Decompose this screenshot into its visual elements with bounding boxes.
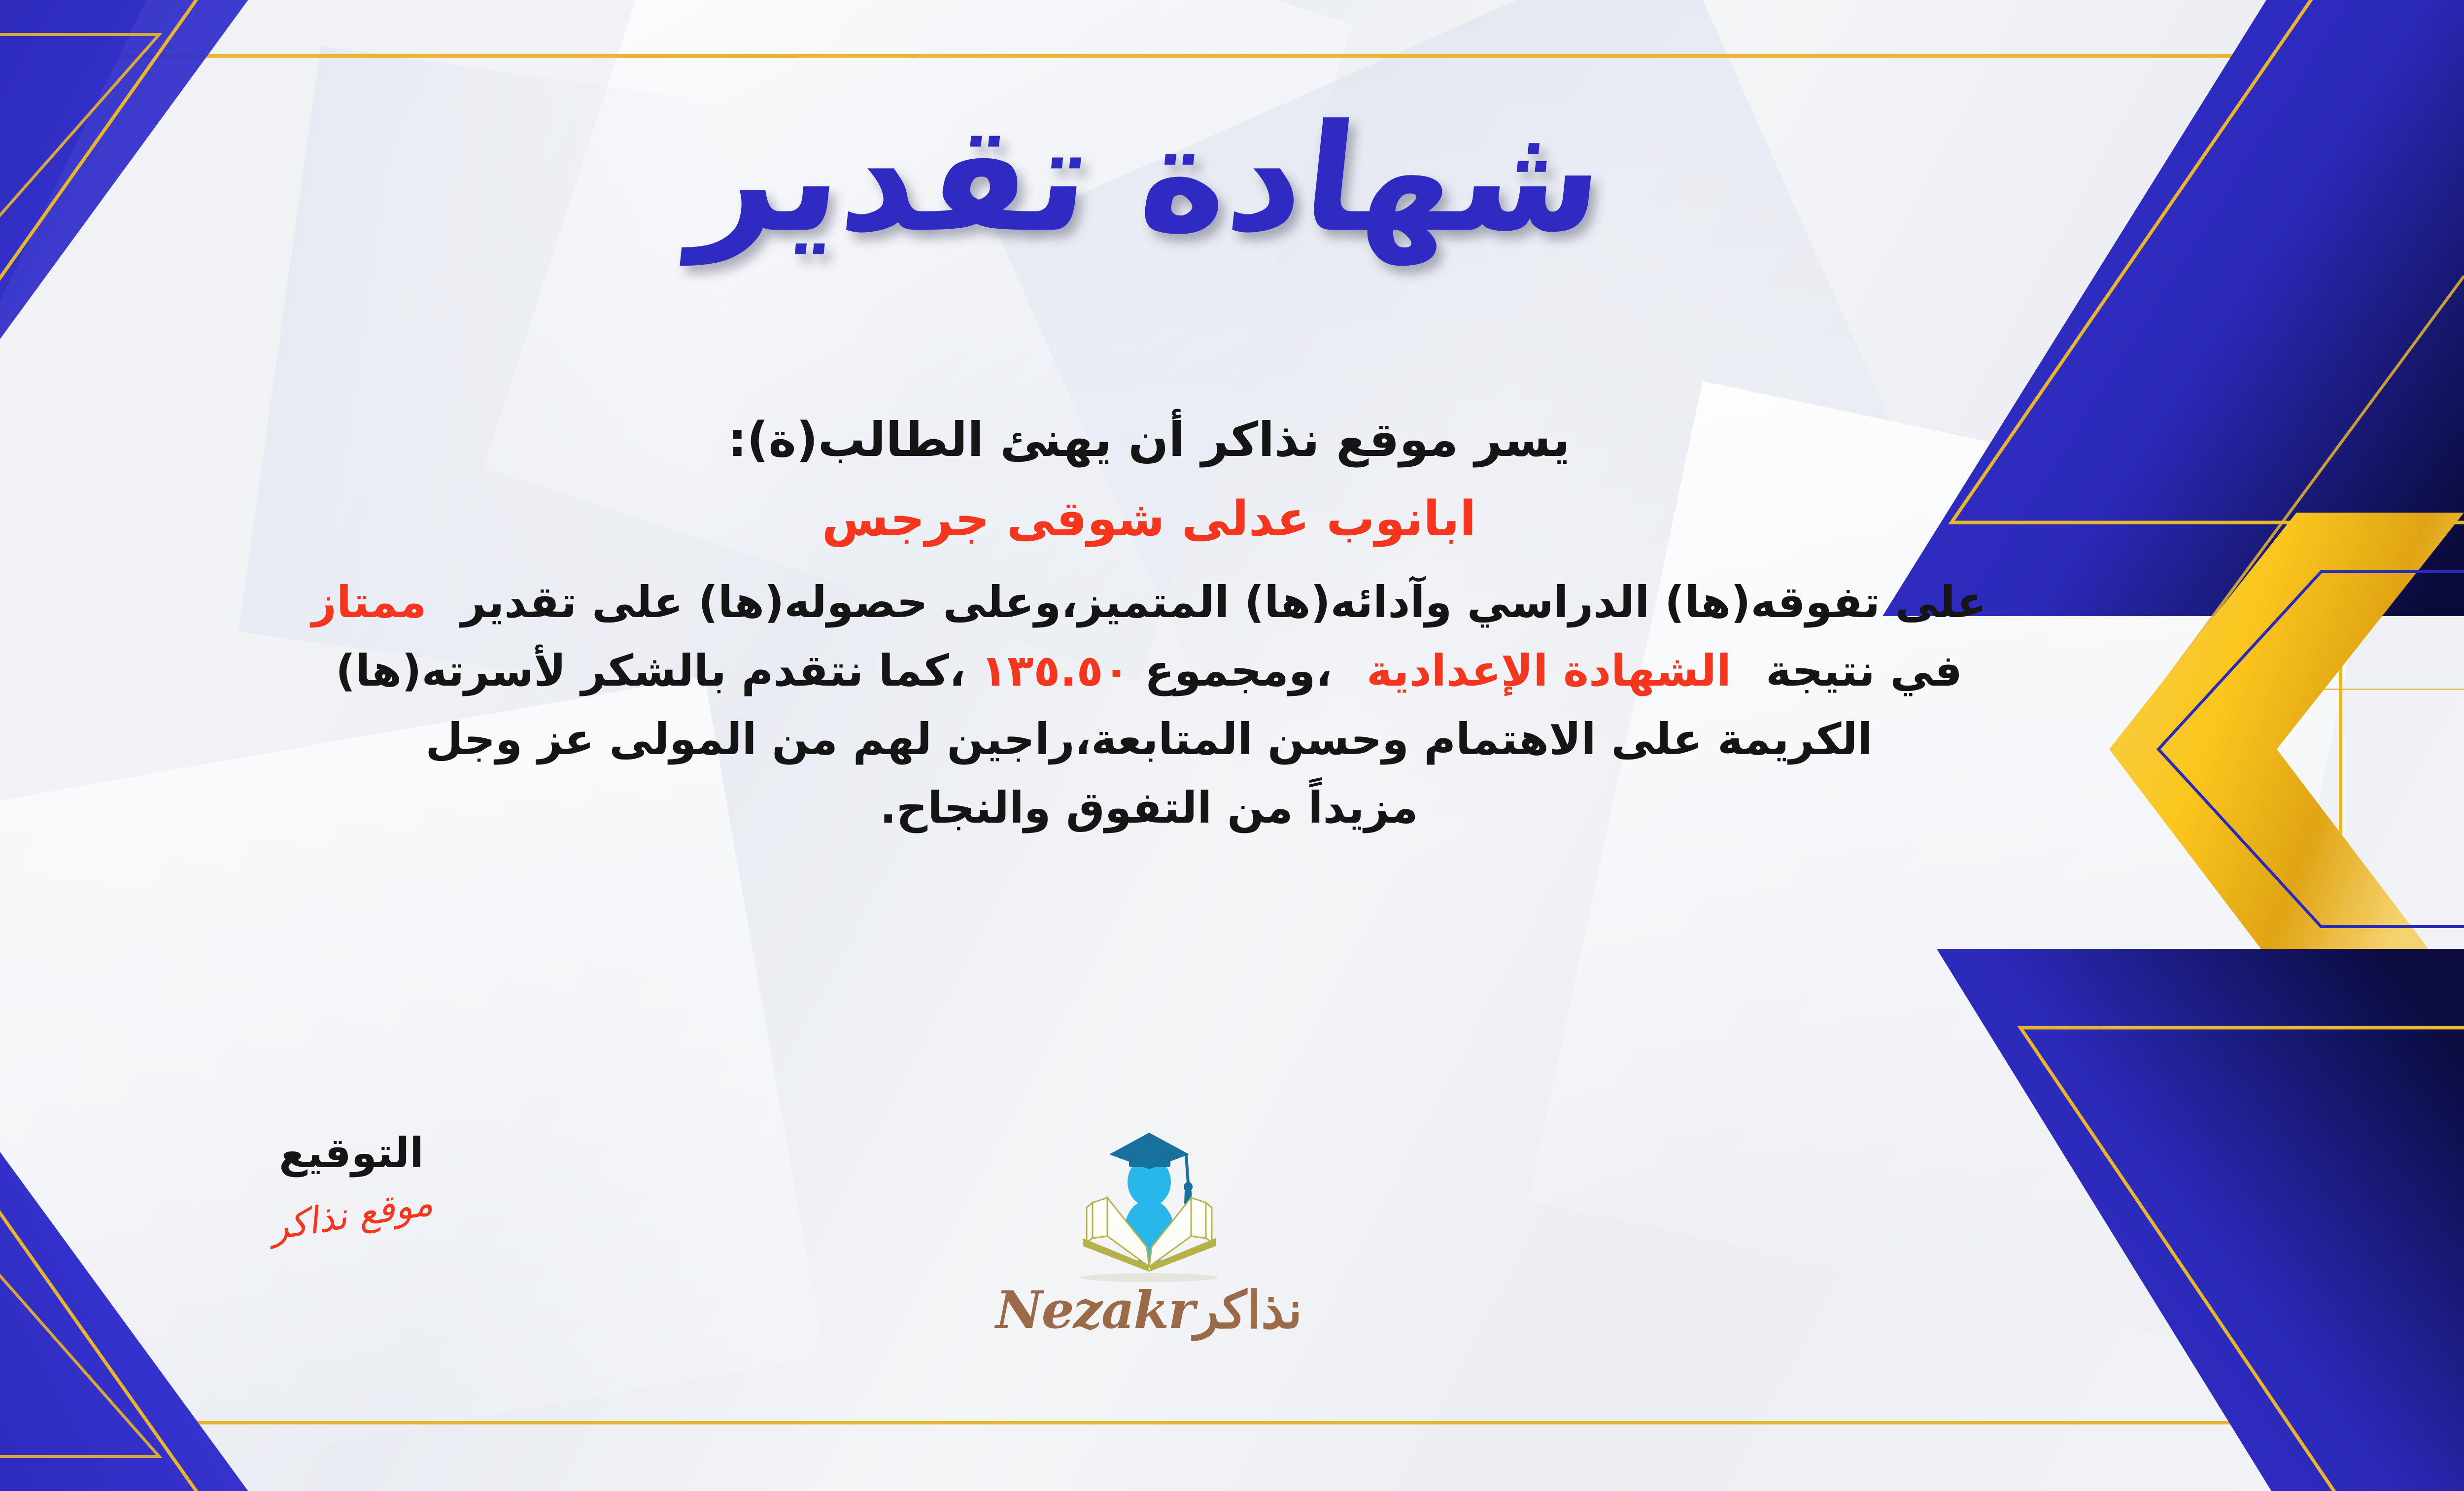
grade-value: ممتاز: [311, 577, 426, 627]
total-score: ١٣٥.٥٠: [981, 645, 1129, 696]
student-name: ابانوب عدلى شوقى جرجس: [0, 491, 2316, 547]
logo-latin-name: Nezakr: [996, 1280, 1195, 1340]
result-text-part2: ،ومجموع: [1145, 645, 1332, 696]
signature-label: التوقيع: [149, 1129, 553, 1177]
certificate-body: يسر موقع نذاكر أن يهنئ الطالب(ة): ابانوب…: [0, 404, 2316, 842]
thanks-line: الكريمة على الاهتمام وحسن المتابعة،راجين…: [425, 714, 1872, 764]
result-text-part3: ،كما نتقدم بالشكر لأسرته(ها): [336, 645, 966, 696]
handwritten-signature: موقع نذاكر: [267, 1181, 436, 1249]
certificate-canvas: شهادة تقدير يسر موقع نذاكر أن يهنئ الطال…: [0, 0, 2464, 1491]
closing-line: مزيداً من التفوق والنجاح.: [880, 782, 1418, 833]
logo-wordmark: نذاكرNezakr: [962, 1280, 1336, 1340]
graduation-book-logo-icon: [1033, 1124, 1265, 1286]
achievement-paragraph: على تفوقه(ها) الدراسي وآدائه(ها) المتميز…: [0, 568, 2316, 842]
certificate-content: شهادة تقدير يسر موقع نذاكر أن يهنئ الطال…: [0, 0, 2464, 1491]
site-logo: نذاكرNezakr: [962, 1124, 1336, 1340]
intro-line: يسر موقع نذاكر أن يهنئ الطالب(ة):: [0, 404, 2316, 476]
exam-name: الشهادة الإعدادية: [1367, 645, 1731, 696]
signature-block: التوقيع موقع نذاكر: [149, 1129, 553, 1236]
result-text-part1: في نتيجة: [1766, 645, 1962, 696]
logo-arabic-name: نذاكر: [1194, 1280, 1302, 1340]
certificate-title: شهادة تقدير: [0, 86, 2464, 271]
achievement-text-part1: على تفوقه(ها) الدراسي وآدائه(ها) المتميز…: [461, 577, 1986, 627]
